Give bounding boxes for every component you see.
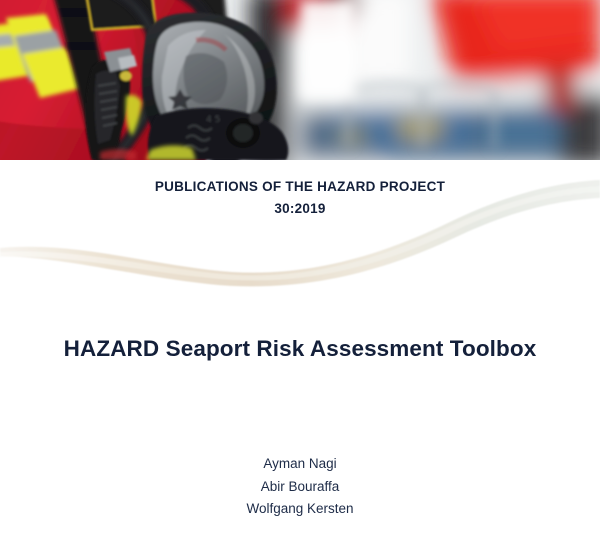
author-name: Wolfgang Kersten xyxy=(0,498,600,521)
author-list: Ayman Nagi Abir Bouraffa Wolfgang Kerste… xyxy=(0,453,600,521)
series-heading: PUBLICATIONS OF THE HAZARD PROJECT 30:20… xyxy=(0,176,600,220)
cover-page: 4 5 xyxy=(0,0,600,533)
cover-image: 4 5 xyxy=(0,0,600,160)
series-number: 30:2019 xyxy=(0,198,600,220)
series-title: PUBLICATIONS OF THE HAZARD PROJECT xyxy=(0,176,600,198)
author-name: Abir Bouraffa xyxy=(0,476,600,499)
author-name: Ayman Nagi xyxy=(0,453,600,476)
page-title: HAZARD Seaport Risk Assessment Toolbox xyxy=(0,336,600,362)
